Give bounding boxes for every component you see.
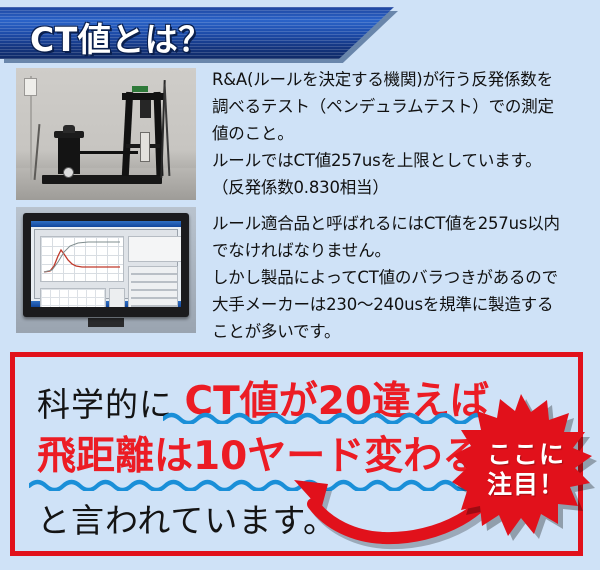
measurement-software-monitor-photo — [16, 207, 196, 333]
photo-wall-switch — [24, 78, 37, 96]
paragraph-1-line-4: ルールではCT値257usを上限としています。 — [212, 147, 592, 174]
paragraph-2-line-3: しかし製品によってCT値のバラつきがあるので — [212, 264, 592, 291]
attention-starburst-badge: ここに 注目！ — [452, 394, 600, 546]
paragraph-1: R&A(ルールを決定する機関)が行う反発係数を 調べるテスト（ペンデュラムテスト… — [212, 66, 592, 201]
starburst-icon — [452, 394, 600, 546]
paragraph-2: ルール適合品と呼ばれるにはCT値を257us以内 でなければなりません。 しかし… — [212, 210, 592, 345]
paragraph-1-line-1: R&A(ルールを決定する機関)が行う反発係数を — [212, 66, 592, 93]
paragraph-1-line-5: （反発係数0.830相当） — [212, 174, 592, 201]
page-title: CT値とは？ — [30, 13, 212, 61]
photo-weight — [140, 132, 150, 162]
pendulum-test-machine-photo — [16, 68, 196, 200]
photo-info-panel — [128, 236, 181, 262]
photo-app-titlebar — [31, 221, 181, 227]
photo-app-window — [34, 229, 178, 299]
photo-green-marker — [132, 86, 148, 92]
photo-tower-top — [122, 93, 164, 100]
photo-monitor-stand — [88, 318, 124, 327]
description-text-column: R&A(ルールを決定する機関)が行う反発係数を 調べるテスト（ペンデュラムテスト… — [212, 66, 592, 345]
paragraph-2-line-4: 大手メーカーは230〜240usを規準に製造する — [212, 291, 592, 318]
paragraph-1-line-2: 調べるテスト（ペンデュラムテスト）での測定 — [212, 93, 592, 120]
photo-chart-secondary — [40, 288, 106, 307]
photo-dial — [63, 167, 74, 178]
photo-chart-main-curve — [40, 236, 124, 282]
header-banner: CT値とは？ — [0, 7, 398, 59]
photo-machine-base — [42, 175, 162, 184]
photo-clamp-knob — [63, 125, 75, 133]
paragraph-2-line-1: ルール適合品と呼ばれるにはCT値を257us以内 — [212, 210, 592, 237]
photo-pendulum-head — [140, 100, 151, 118]
paragraph-2-line-2: でなければなりません。 — [212, 237, 592, 264]
paragraph-2-line-5: ことが多いです。 — [212, 318, 592, 345]
photo-monitor-bezel — [23, 213, 189, 317]
photo-monitor-screen — [31, 221, 181, 307]
photo-data-grid — [128, 266, 178, 307]
photo-pendulum-arm — [80, 151, 138, 154]
paragraph-1-line-3: 値のこと。 — [212, 120, 592, 147]
photo-small-panel — [109, 288, 125, 307]
